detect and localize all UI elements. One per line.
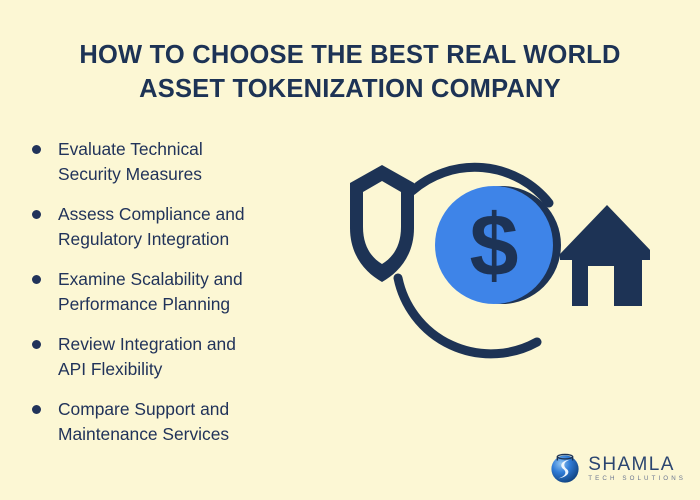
brand-logo: SHAMLA TECH SOLUTIONS [548, 452, 686, 486]
bullet-dot-icon [32, 275, 41, 284]
tokenization-illustration: $ [350, 128, 650, 378]
bullet-dot-icon [32, 340, 41, 349]
shamla-globe-icon [548, 452, 582, 486]
shield-icon [350, 165, 414, 282]
bullet-dot-icon [32, 405, 41, 414]
bullet-dot-icon [32, 210, 41, 219]
logo-wordmark: SHAMLA TECH SOLUTIONS [588, 455, 686, 482]
list-item-line-2: Performance Planning [58, 292, 338, 317]
list-item: Compare Support and Maintenance Services [28, 397, 338, 446]
house-icon [560, 205, 650, 306]
title-line-1: HOW TO CHOOSE THE BEST REAL WORLD [35, 38, 665, 72]
list-item: Review Integration and API Flexibility [28, 332, 338, 381]
logo-tagline: TECH SOLUTIONS [588, 476, 686, 482]
logo-name: SHAMLA [588, 455, 686, 474]
list-item-line-2: API Flexibility [58, 357, 338, 382]
list-item-line-2: Maintenance Services [58, 422, 338, 447]
bullet-dot-icon [32, 145, 41, 154]
list-item: Assess Compliance and Regulatory Integra… [28, 202, 338, 251]
coin-dollar-symbol: $ [470, 196, 519, 295]
list-item: Examine Scalability and Performance Plan… [28, 267, 338, 316]
list-item: Evaluate Technical Security Measures [28, 137, 338, 186]
page-title: HOW TO CHOOSE THE BEST REAL WORLD ASSET … [35, 38, 665, 106]
dollar-coin-icon: $ [435, 186, 553, 304]
list-item-line-1: Assess Compliance and [58, 202, 338, 227]
list-item-line-1: Evaluate Technical [58, 137, 338, 162]
list-item-line-1: Examine Scalability and [58, 267, 338, 292]
title-line-2: ASSET TOKENIZATION COMPANY [35, 72, 665, 106]
list-item-line-2: Security Measures [58, 162, 338, 187]
list-item-line-1: Review Integration and [58, 332, 338, 357]
infographic-poster: HOW TO CHOOSE THE BEST REAL WORLD ASSET … [0, 0, 700, 500]
list-item-line-2: Regulatory Integration [58, 227, 338, 252]
list-item-line-1: Compare Support and [58, 397, 338, 422]
checklist: Evaluate Technical Security Measures Ass… [28, 137, 338, 446]
